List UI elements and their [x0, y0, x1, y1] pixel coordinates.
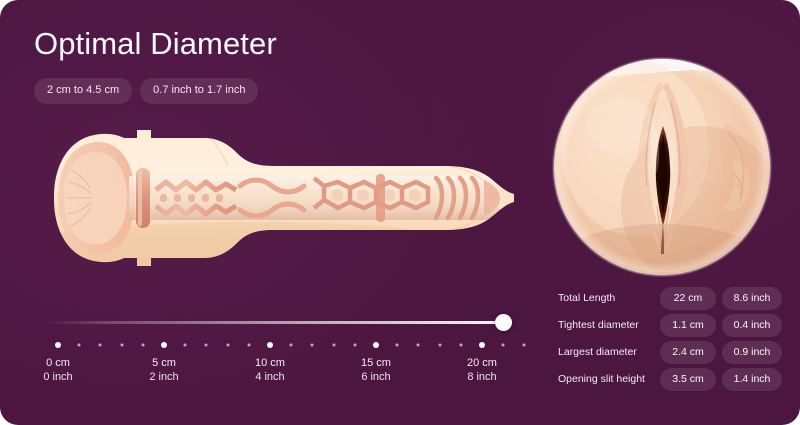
- ruler-tick-row: [24, 338, 524, 352]
- spec-value-inch: 0.9 inch: [722, 341, 782, 365]
- ruler-tick-minor: [353, 344, 356, 347]
- range-pill-inch: 0.7 inch to 1.7 inch: [140, 78, 258, 104]
- length-slider[interactable]: [46, 315, 522, 331]
- spec-row: Opening slit height3.5 cm1.4 inch: [558, 369, 786, 390]
- ruler-tick-minor: [438, 344, 441, 347]
- ruler-label-inch: 8 inch: [467, 370, 497, 384]
- page-title: Optimal Diameter: [34, 26, 277, 62]
- spec-value-inch: 1.4 inch: [722, 368, 782, 392]
- ruler-tick-minor: [141, 344, 144, 347]
- ruler-label-inch: 2 inch: [149, 370, 178, 384]
- spec-value-cm: 3.5 cm: [660, 368, 716, 392]
- ruler-tick-major: [161, 342, 167, 348]
- ruler-label-cm: 0 cm: [43, 356, 72, 370]
- spec-label: Opening slit height: [558, 374, 660, 385]
- ruler-tick-major: [267, 342, 273, 348]
- spec-label: Tightest diameter: [558, 320, 660, 331]
- spec-value-cm: 22 cm: [660, 287, 716, 311]
- measurement-ruler: 0 cm0 inch5 cm2 inch10 cm4 inch15 cm6 in…: [24, 338, 524, 398]
- ruler-label: 15 cm6 inch: [361, 356, 391, 384]
- spec-value-inch: 0.4 inch: [722, 314, 782, 338]
- ruler-label-cm: 10 cm: [255, 356, 285, 370]
- ruler-tick-major: [479, 342, 485, 348]
- ruler-tick-minor: [78, 344, 81, 347]
- spec-value-cm: 1.1 cm: [660, 314, 716, 338]
- ruler-label: 0 cm0 inch: [43, 356, 72, 384]
- ruler-label-cm: 15 cm: [361, 356, 391, 370]
- ruler-tick-minor: [396, 344, 399, 347]
- ruler-label: 10 cm4 inch: [255, 356, 285, 384]
- slider-handle[interactable]: [495, 314, 512, 331]
- ruler-tick-minor: [184, 344, 187, 347]
- optimal-diameter-card: Optimal Diameter 2 cm to 4.5 cm 0.7 inch…: [0, 0, 800, 425]
- ruler-tick-minor: [226, 344, 229, 347]
- ruler-tick-minor: [99, 344, 102, 347]
- spec-row: Total Length22 cm8.6 inch: [558, 288, 786, 309]
- ruler-tick-minor: [459, 344, 462, 347]
- slider-track[interactable]: [46, 321, 512, 324]
- ruler-label-cm: 20 cm: [467, 356, 497, 370]
- ruler-tick-minor: [523, 344, 526, 347]
- ruler-tick-minor: [502, 344, 505, 347]
- ruler-tick-minor: [205, 344, 208, 347]
- spec-label: Largest diameter: [558, 347, 660, 358]
- orifice-closeup-photo: [551, 56, 773, 278]
- ruler-label-cm: 5 cm: [149, 356, 178, 370]
- product-cross-section-illustration: [24, 108, 534, 288]
- spec-value-cm: 2.4 cm: [660, 341, 716, 365]
- spec-row: Largest diameter2.4 cm0.9 inch: [558, 342, 786, 363]
- ruler-tick-minor: [247, 344, 250, 347]
- ruler-label-inch: 0 inch: [43, 370, 72, 384]
- ruler-tick-minor: [311, 344, 314, 347]
- spec-value-inch: 8.6 inch: [722, 287, 782, 311]
- spec-label: Total Length: [558, 293, 660, 304]
- ruler-tick-minor: [332, 344, 335, 347]
- range-pill-group: 2 cm to 4.5 cm 0.7 inch to 1.7 inch: [34, 78, 258, 104]
- ruler-tick-major: [373, 342, 379, 348]
- range-pill-cm: 2 cm to 4.5 cm: [34, 78, 132, 104]
- spec-row: Tightest diameter1.1 cm0.4 inch: [558, 315, 786, 336]
- specifications-table: Total Length22 cm8.6 inchTightest diamet…: [558, 288, 786, 390]
- ruler-tick-minor: [290, 344, 293, 347]
- ruler-label: 5 cm2 inch: [149, 356, 178, 384]
- ruler-tick-minor: [417, 344, 420, 347]
- ruler-label: 20 cm8 inch: [467, 356, 497, 384]
- ruler-label-inch: 4 inch: [255, 370, 285, 384]
- ruler-tick-major: [55, 342, 61, 348]
- ruler-tick-minor: [120, 344, 123, 347]
- ruler-label-inch: 6 inch: [361, 370, 391, 384]
